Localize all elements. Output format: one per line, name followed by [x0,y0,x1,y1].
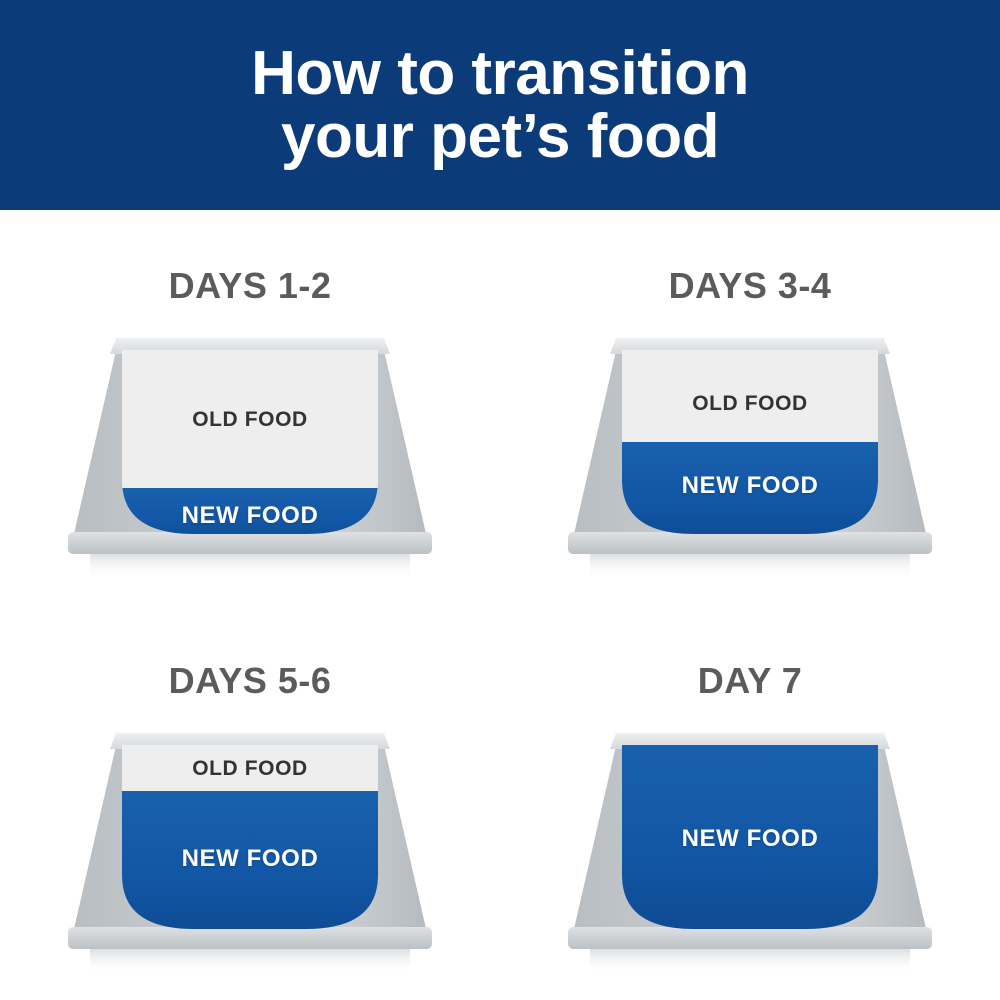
bowl-reflection [590,946,910,974]
page-title: How to transition your pet’s food [211,42,789,168]
bowl-day-7: OLD FOOD NEW FOOD [560,715,940,985]
bowl-illustration [60,320,440,590]
bowl-reflection [90,551,410,579]
header-band: How to transition your pet’s food [0,0,1000,210]
bowl-days-3-4: OLD FOOD NEW FOOD [560,320,940,590]
bowl-cavity [610,741,900,943]
infographic-page: How to transition your pet’s food DAYS 1… [0,0,1000,1000]
bowl-base [568,927,932,949]
step-card-day-7: DAY 7 [500,605,1000,1000]
bowl-base [568,532,932,554]
steps-grid: DAYS 1-2 [0,210,1000,1000]
bowl-base [68,927,432,949]
bowl-days-1-2: OLD FOOD NEW FOOD [60,320,440,590]
bowl-base [68,532,432,554]
bowl-reflection [90,946,410,974]
bowl-reflection [590,551,910,579]
step-card-days-3-4: DAYS 3-4 [500,210,1000,605]
bowl-cavity [110,346,400,548]
bowl-cavity [610,346,900,548]
bowl-illustration [560,320,940,590]
bowl-illustration [560,715,940,985]
step-title-days-5-6: DAYS 5-6 [169,605,332,699]
bowl-days-5-6: OLD FOOD NEW FOOD [60,715,440,985]
step-title-day-7: DAY 7 [698,605,803,699]
bowl-cavity [110,741,400,943]
bowl-illustration [60,715,440,985]
step-card-days-5-6: DAYS 5-6 [0,605,500,1000]
step-card-days-1-2: DAYS 1-2 [0,210,500,605]
step-title-days-1-2: DAYS 1-2 [169,210,332,304]
new-food-fill [610,741,900,943]
step-title-days-3-4: DAYS 3-4 [669,210,832,304]
